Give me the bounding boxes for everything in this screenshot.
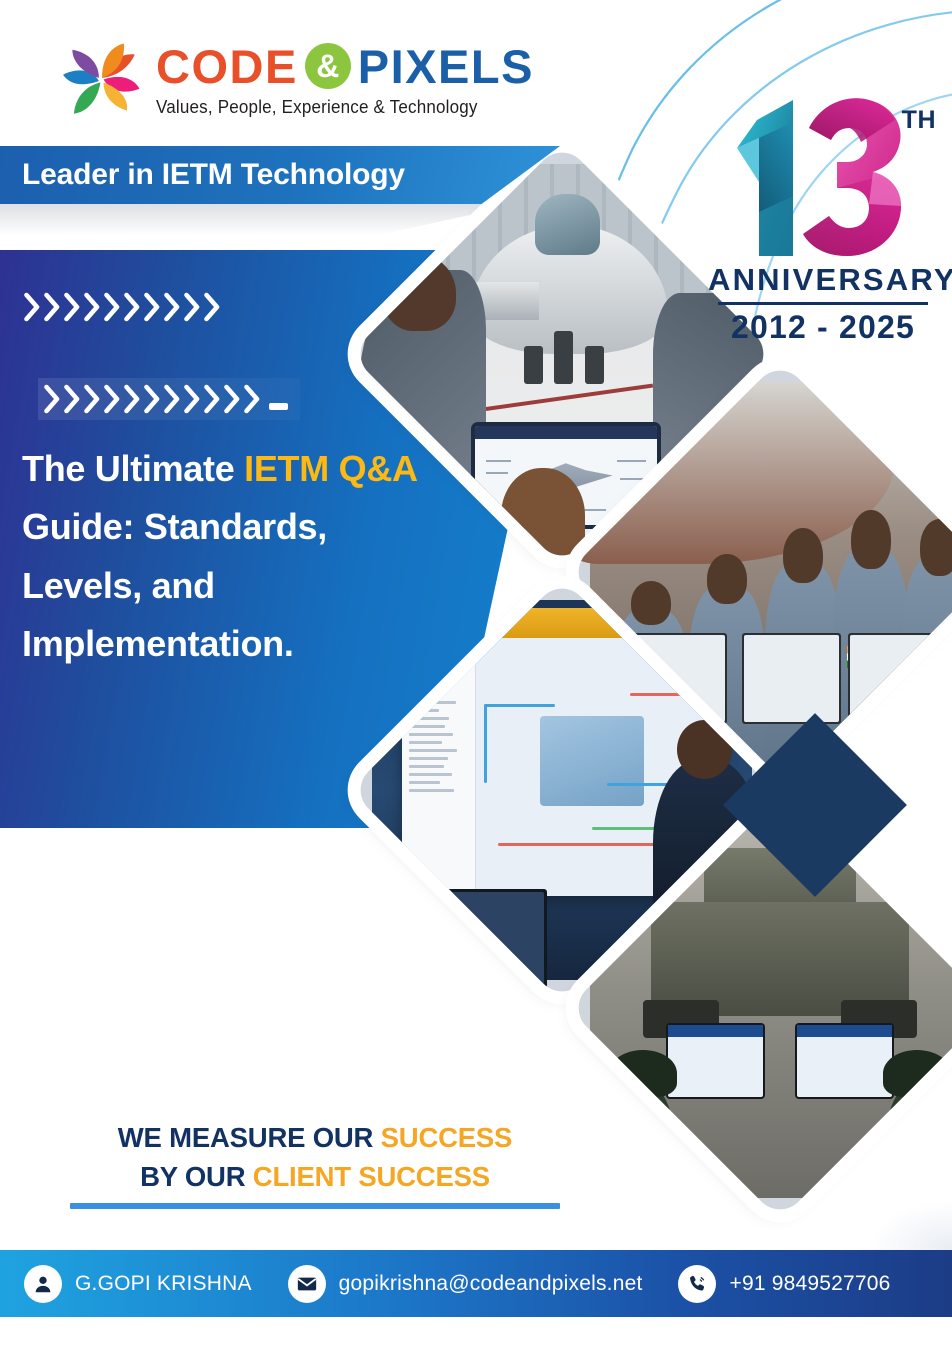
ietm-warning-banner: Rea (456, 608, 631, 638)
anniversary-word: ANNIVERSARY (708, 262, 938, 298)
hero-headline: The Ultimate IETM Q&A Guide: Standards, … (22, 440, 442, 673)
phone-ringing-icon (678, 1265, 716, 1303)
anniversary-number: TH (708, 92, 938, 264)
tagline-line2-plain: BY OUR (140, 1161, 253, 1192)
chevron-right-icon (204, 384, 221, 414)
success-tagline: WE MEASURE OUR SUCCESS BY OUR CLIENT SUC… (70, 1118, 560, 1209)
footer-email-label: gopikrishna@codeandpixels.net (339, 1272, 643, 1296)
anniversary-digits-icon (723, 92, 923, 264)
chevron-right-icon (184, 292, 201, 322)
chevron-right-icon (44, 384, 61, 414)
chevron-right-icon (84, 292, 101, 322)
chevron-right-icon (104, 384, 121, 414)
anniversary-badge: TH ANNIVERSARY 2012 - 2025 (708, 92, 938, 346)
chevron-right-icon (204, 292, 221, 322)
chevron-right-icon (244, 384, 261, 414)
footer-name-label: G.GOPI KRISHNA (75, 1272, 252, 1296)
tagline-line1-accent: SUCCESS (381, 1122, 513, 1153)
footer-corner-shadow (792, 1180, 952, 1250)
footer-email[interactable]: gopikrishna@codeandpixels.net (288, 1265, 643, 1303)
headline-part-4: Guide: Standards, Levels, and Implementa… (22, 506, 327, 664)
warning-triangle-icon (462, 618, 472, 627)
chevron-right-icon (224, 384, 241, 414)
contact-footer: G.GOPI KRISHNA gopikrishna@codeandpixels… (0, 1250, 952, 1317)
flyer-page: CODE & PIXELS Values, People, Experience… (0, 0, 952, 1347)
footer-phone[interactable]: +91 9849527706 (678, 1265, 890, 1303)
headline-part-2 (329, 448, 339, 489)
headline-part-1: IETM (244, 448, 329, 489)
logo-pixels-text: PIXELS (358, 39, 534, 94)
chevron-right-icon (144, 384, 161, 414)
tagline-line2-accent: CLIENT SUCCESS (253, 1161, 490, 1192)
chevron-right-icon (124, 292, 141, 322)
tagline-line1-plain: WE MEASURE OUR (118, 1122, 381, 1153)
headline-part-3: Q&A (339, 448, 417, 489)
chevron-right-icon (64, 292, 81, 322)
chevron-right-icon (184, 384, 201, 414)
ietm-warning-label: Rea (476, 618, 493, 628)
brand-logo[interactable]: CODE & PIXELS Values, People, Experience… (62, 38, 534, 120)
chevron-row-top (24, 292, 224, 322)
pinwheel-logo-icon (62, 42, 142, 120)
tagline-line-2: BY OUR CLIENT SUCCESS (70, 1157, 560, 1196)
logo-tagline: Values, People, Experience & Technology (156, 96, 504, 118)
leader-banner-label: Leader in IETM Technology (0, 158, 405, 192)
chevron-right-icon (44, 292, 61, 322)
leader-banner: Leader in IETM Technology (0, 146, 560, 204)
chevron-right-icon (104, 292, 121, 322)
footer-phone-label: +91 9849527706 (729, 1272, 890, 1296)
anniversary-years: 2012 - 2025 (708, 309, 938, 346)
chevron-right-icon (144, 292, 161, 322)
tagline-underline (70, 1203, 560, 1209)
logo-code-text: CODE (156, 39, 298, 94)
anniversary-divider (718, 302, 928, 305)
chevron-right-icon (24, 292, 41, 322)
chevron-right-icon (164, 292, 181, 322)
anniversary-ordinal: TH (902, 106, 936, 135)
person-icon (24, 1265, 62, 1303)
chevron-right-icon (64, 384, 81, 414)
chevron-right-icon (124, 384, 141, 414)
headline-part-0: The Ultimate (22, 448, 244, 489)
footer-contact-name[interactable]: G.GOPI KRISHNA (24, 1265, 252, 1303)
logo-ampersand: & (305, 43, 351, 89)
chevron-row-bottom (38, 378, 300, 420)
envelope-icon (288, 1265, 326, 1303)
chevron-trailing-dash (269, 403, 288, 410)
chevron-right-icon (84, 384, 101, 414)
tagline-line-1: WE MEASURE OUR SUCCESS (70, 1118, 560, 1157)
chevron-right-icon (164, 384, 181, 414)
